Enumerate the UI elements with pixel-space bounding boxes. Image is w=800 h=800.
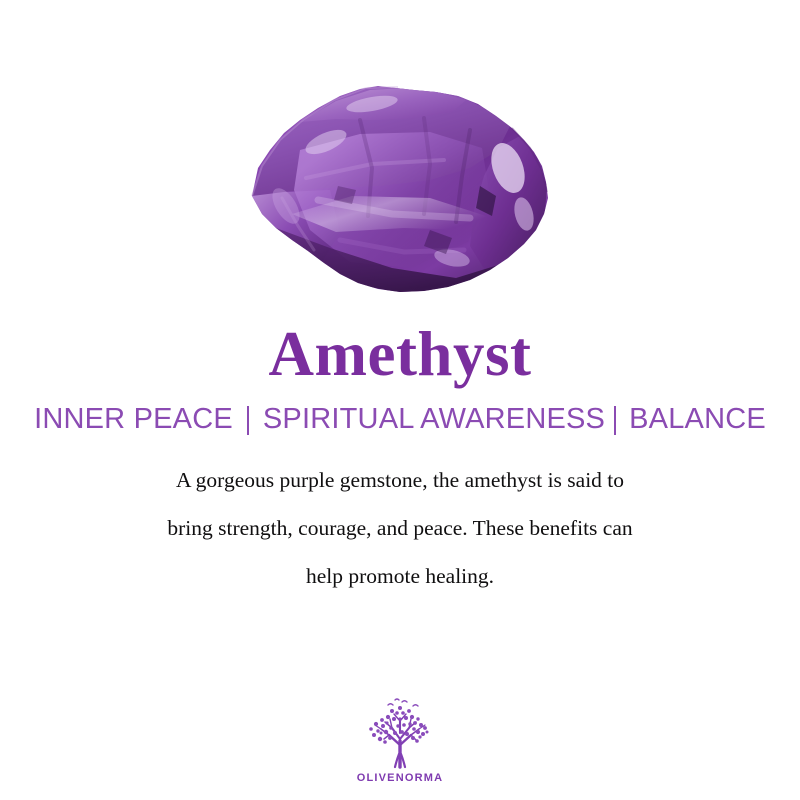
keyword-separator-1 (247, 406, 249, 435)
keyword-balance: BALANCE (629, 403, 766, 436)
brand-name: OLIVENORMA (357, 772, 444, 784)
description-line-2: bring strength, courage, and peace. Thes… (40, 504, 760, 552)
product-description: A gorgeous purple gemstone, the amethyst… (40, 456, 760, 600)
keyword-separator-2 (614, 406, 616, 435)
product-info-card: Amethyst INNER PEACE SPIRITUAL AWARENESS… (0, 0, 800, 800)
keyword-inner-peace: INNER PEACE (34, 403, 233, 436)
gem-body (240, 80, 560, 300)
tree-logo-icon (357, 697, 443, 771)
description-line-1: A gorgeous purple gemstone, the amethyst… (40, 456, 760, 504)
description-line-3: help promote healing. (40, 552, 760, 600)
keyword-spiritual-awareness: SPIRITUAL AWARENESS (263, 403, 605, 436)
hero-image-area (0, 0, 800, 318)
keyword-list: INNER PEACE SPIRITUAL AWARENESS BALANCE (0, 390, 800, 448)
birds-icon (388, 699, 418, 706)
brand-logo: OLIVENORMA (0, 697, 800, 784)
amethyst-crystal-icon (0, 0, 800, 318)
page-title: Amethyst (0, 318, 800, 390)
